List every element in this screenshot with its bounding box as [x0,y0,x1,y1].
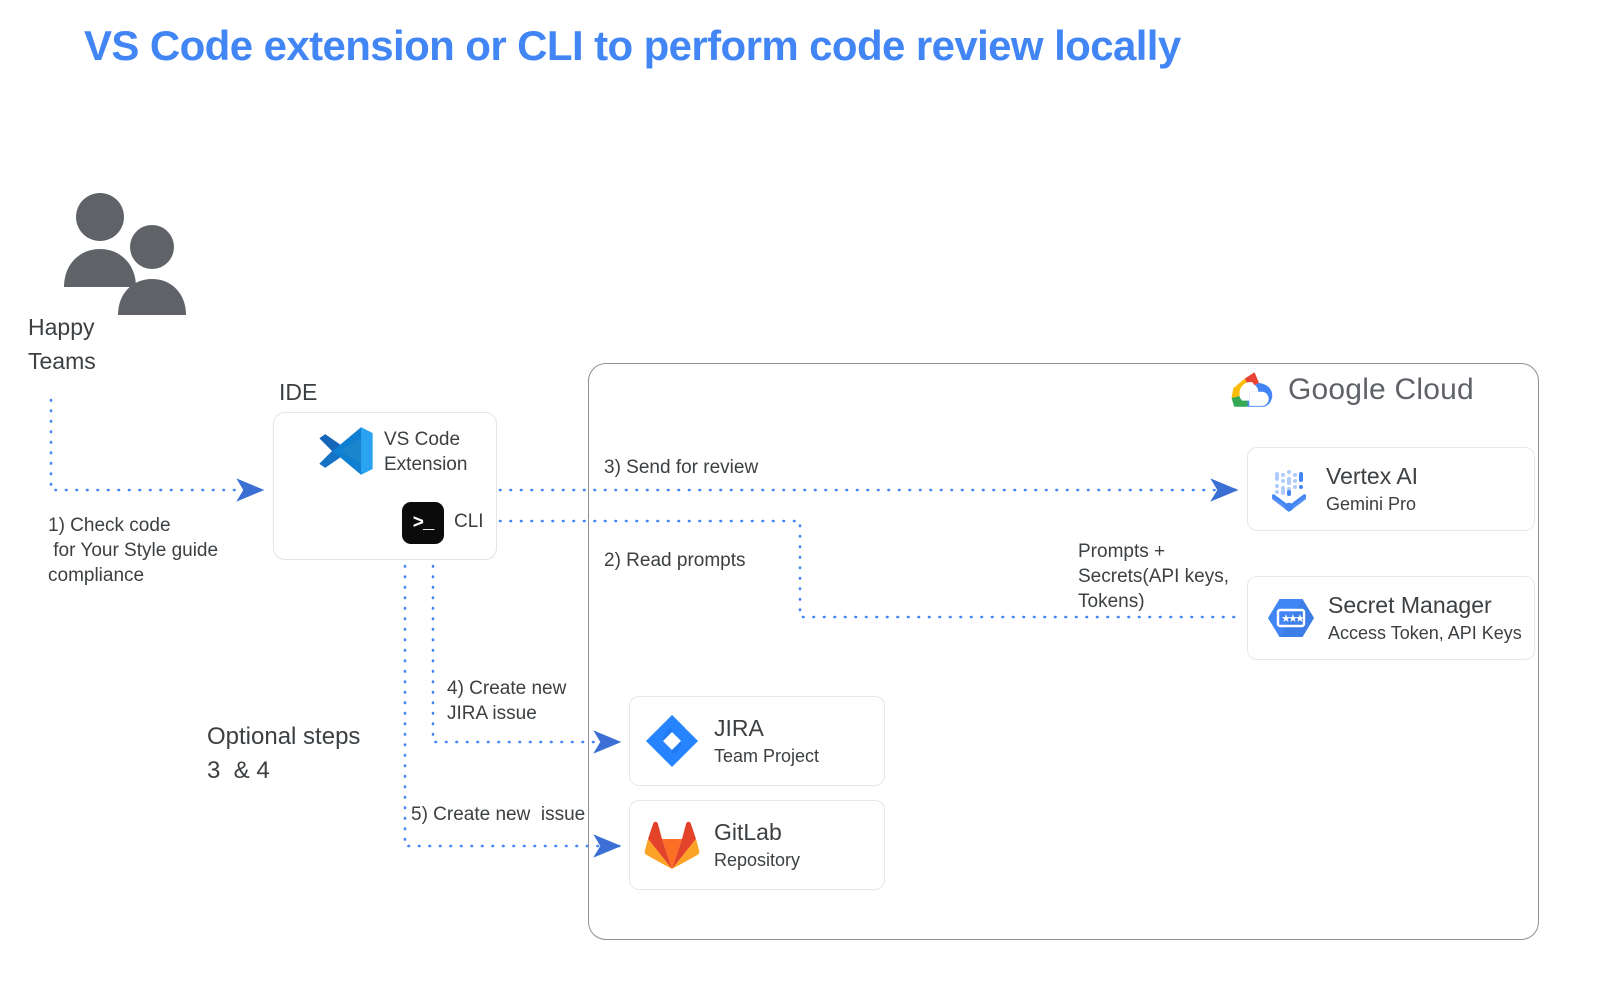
vscode-extension-label: VS Code Extension [384,427,467,477]
google-cloud-icon [1228,370,1274,410]
step4-label: 4) Create new JIRA issue [447,676,566,726]
jira-card[interactable]: JIRA Team Project [629,696,885,786]
prompts-secrets-label: Prompts + Secrets(API keys, Tokens) [1078,539,1229,614]
terminal-icon: >_ [402,502,444,544]
secret-manager-card[interactable]: ★ ★ ★ Secret Manager Access Token, API K… [1247,576,1535,660]
secret-manager-subtitle: Access Token, API Keys [1328,621,1522,645]
secret-manager-text: Secret Manager Access Token, API Keys [1328,591,1522,645]
jira-icon [644,713,700,769]
gitlab-text: GitLab Repository [714,818,800,872]
jira-subtitle: Team Project [714,744,819,768]
vertex-ai-icon [1266,466,1312,512]
vertex-ai-title: Vertex AI [1326,462,1418,490]
vscode-icon [317,425,375,477]
secret-manager-title: Secret Manager [1328,591,1522,619]
cli-label: CLI [454,511,484,533]
svg-text:★: ★ [1295,613,1305,625]
step3-label: 3) Send for review [604,455,758,480]
step5-label: 5) Create new issue [411,802,585,827]
ide-label: IDE [279,379,317,406]
happy-teams-label: Happy Teams [28,310,96,378]
jira-text: JIRA Team Project [714,714,819,768]
wire-step1 [51,400,262,490]
vertex-ai-subtitle: Gemini Pro [1326,492,1418,516]
gitlab-subtitle: Repository [714,848,800,872]
gitlab-card[interactable]: GitLab Repository [629,800,885,890]
vertex-ai-card[interactable]: Vertex AI Gemini Pro [1247,447,1535,531]
secret-manager-icon: ★ ★ ★ [1266,595,1316,641]
vertex-ai-text: Vertex AI Gemini Pro [1326,462,1418,516]
step1-label: 1) Check code for Your Style guide compl… [48,513,218,588]
gitlab-title: GitLab [714,818,800,846]
gitlab-icon [644,819,700,871]
page-title: VS Code extension or CLI to perform code… [84,22,1181,70]
people-icon [60,192,210,317]
jira-title: JIRA [714,714,819,742]
optional-steps-label: Optional steps 3 & 4 [207,720,360,788]
step2-label: 2) Read prompts [604,548,746,573]
diagram-canvas: VS Code extension or CLI to perform code… [0,0,1600,982]
google-cloud-branding: Google Cloud [1228,370,1474,410]
terminal-glyph: >_ [402,502,444,544]
google-cloud-text: Google Cloud [1288,373,1474,407]
